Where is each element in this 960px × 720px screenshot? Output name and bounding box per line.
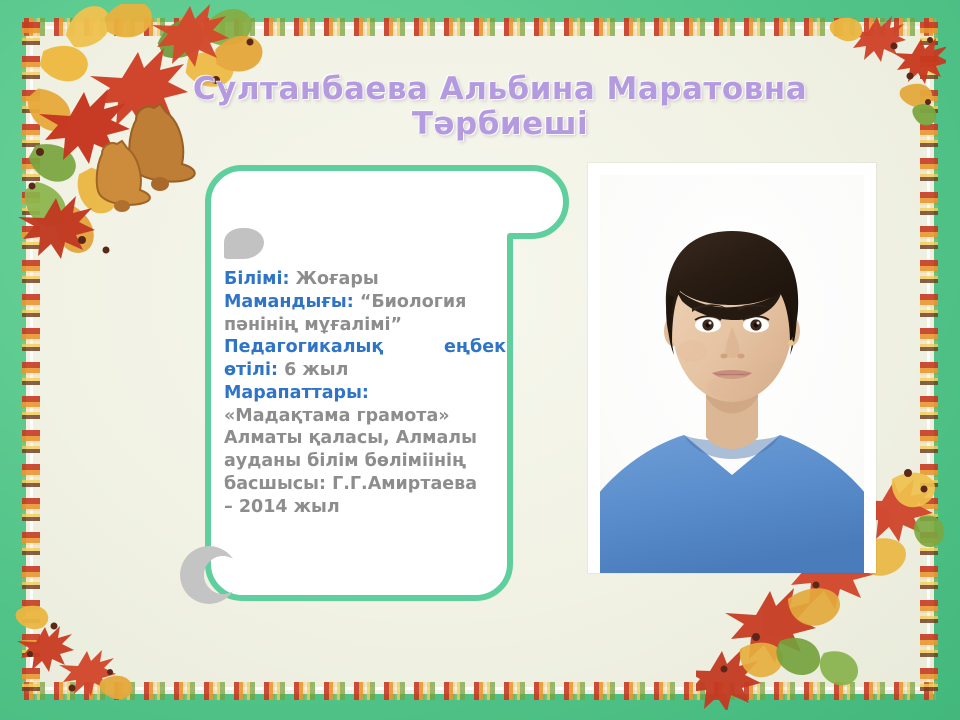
quote-open-icon	[224, 228, 264, 259]
info-card-body: Білімі: Жоғары Мамандығы: “Биология пәні…	[224, 228, 506, 518]
info-row-experience-label: Педагогикалық еңбек	[224, 336, 506, 359]
slide-root: Султанбаева Альбина Маратовна Тәрбиеші Б…	[0, 0, 960, 720]
info-label-education: Білімі:	[224, 269, 289, 289]
info-label-awards: Марапаттары:	[224, 383, 369, 403]
info-value-experience: 6 жыл	[284, 360, 348, 380]
info-value-education: Жоғары	[296, 269, 379, 289]
portrait-photo	[600, 175, 864, 573]
info-awards-line-4: басшысы: Г.Г.Амиртаева	[224, 473, 506, 496]
info-label-experience-1: Педагогикалық	[224, 336, 383, 359]
slide-title: Султанбаева Альбина Маратовна Тәрбиеші	[150, 72, 850, 141]
info-label-experience-3: өтілі:	[224, 360, 278, 380]
quote-close-icon	[180, 546, 238, 604]
info-awards-line-2: Алматы қаласы, Алмалы	[224, 427, 506, 450]
portrait-photo-frame	[588, 163, 876, 573]
info-awards-line-5: – 2014 жыл	[224, 496, 506, 519]
info-value-specialty: “Биология	[360, 292, 467, 312]
info-awards-line-3: ауданы білім бөліміінің	[224, 450, 506, 473]
info-label-specialty: Мамандығы:	[224, 292, 354, 312]
info-row-education: Білімі: Жоғары	[224, 268, 506, 291]
info-row-awards-label: Марапаттары:	[224, 382, 506, 405]
title-line-name: Султанбаева Альбина Маратовна	[150, 72, 850, 107]
portrait-photo-image	[600, 175, 864, 573]
info-awards-line-1: «Мадақтама грамота»	[224, 405, 506, 428]
info-label-experience-2: еңбек	[444, 336, 506, 359]
info-row-experience-value: өтілі: 6 жыл	[224, 359, 506, 382]
info-row-specialty-cont: пәнінің мұғалімі”	[224, 314, 506, 337]
info-card: Білімі: Жоғары Мамандығы: “Биология пәні…	[170, 160, 570, 610]
info-row-specialty: Мамандығы: “Биология	[224, 291, 506, 314]
title-line-role: Тәрбиеші	[150, 107, 850, 142]
info-value-specialty-cont: пәнінің мұғалімі”	[224, 315, 402, 335]
